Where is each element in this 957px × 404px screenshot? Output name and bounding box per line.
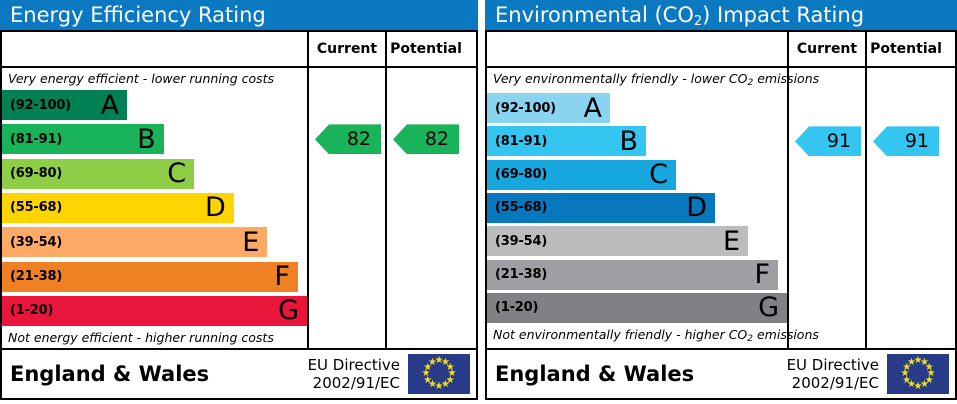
energy-potential-arrow: 82 (393, 124, 459, 154)
band-row-a: (92-100)A (2, 90, 127, 120)
band-row-f: (21-38)F (2, 262, 298, 292)
energy-bands-cell: Very energy efficient - lower running co… (2, 68, 309, 348)
chart-title-energy-text: Energy Efficiency Rating (10, 3, 266, 27)
band-letter-g: G (278, 297, 301, 324)
band-range-b: (81-91) (495, 134, 547, 149)
co2-potential-cell: 91 (867, 68, 945, 348)
band-range-b: (81-91) (10, 132, 62, 147)
band-letter-d: D (205, 194, 228, 221)
band-row-b: (81-91)B (2, 124, 164, 154)
co2-directive-line2: 2002/91/EC (787, 374, 879, 392)
band-row-c: (69-80)C (487, 160, 676, 190)
header-bands-cell-co2 (487, 32, 789, 66)
band-range-d: (55-68) (495, 200, 547, 215)
co2-footer-directive: EU Directive 2002/91/EC (787, 356, 887, 392)
band-row-e: (39-54)E (2, 227, 267, 257)
eu-star-icon: ★ (428, 358, 437, 368)
energy-rating-table: Current Potential Very energy efficient … (0, 30, 478, 400)
co2-current-cell: 91 (789, 68, 867, 348)
energy-caption-top: Very energy efficient - lower running co… (2, 68, 307, 88)
band-range-c: (69-80) (495, 167, 547, 182)
band-range-a: (92-100) (495, 101, 556, 116)
band-letter-g: G (758, 294, 781, 321)
energy-band-list: (92-100)A(81-91)B(69-80)C(55-68)D(39-54)… (2, 88, 307, 328)
co2-bands-cell: Very environmentally friendly - lower CO… (487, 68, 789, 348)
co2-impact-rating-chart: Environmental (CO2) Impact Rating Curren… (485, 0, 957, 404)
band-letter-f: F (274, 263, 292, 290)
header-potential-energy: Potential (387, 32, 465, 66)
band-range-d: (55-68) (10, 200, 62, 215)
band-row-d: (55-68)D (2, 193, 234, 223)
eu-star-icon: ★ (907, 358, 916, 368)
chart-title-co2-prefix: Environmental (CO (495, 3, 694, 27)
chart-gap (478, 0, 485, 404)
band-range-e: (39-54) (495, 234, 547, 249)
band-row-b: (81-91)B (487, 126, 646, 156)
co2-current-arrow: 91 (795, 126, 861, 156)
chart-title-energy: Energy Efficiency Rating (0, 0, 478, 30)
eu-flag-icon: ★★★★★★★★★★★★ (408, 354, 470, 394)
energy-directive-line2: 2002/91/EC (308, 374, 400, 392)
co2-caption-top: Very environmentally friendly - lower CO… (487, 68, 787, 91)
co2-band-area: Very environmentally friendly - lower CO… (487, 68, 787, 348)
band-row-c: (69-80)C (2, 159, 194, 189)
co2-footer-region: England & Wales (495, 362, 787, 386)
band-range-a: (92-100) (10, 98, 71, 113)
table-header-row: Current Potential (2, 32, 476, 68)
band-row-a: (92-100)A (487, 93, 610, 123)
table-body-row: Very energy efficient - lower running co… (2, 68, 476, 350)
co2-band-list: (92-100)A(81-91)B(69-80)C(55-68)D(39-54)… (487, 91, 787, 325)
band-letter-c: C (167, 160, 188, 187)
co2-caption-bottom: Not environmentally friendly - higher CO… (487, 325, 787, 348)
chart-title-co2-subscript: 2 (694, 14, 702, 29)
band-range-f: (21-38) (10, 269, 62, 284)
epc-charts-container: Energy Efficiency Rating Current Potenti… (0, 0, 957, 404)
band-row-g: (1-20)G (2, 296, 307, 326)
header-bands-cell (2, 32, 309, 66)
band-letter-e: E (723, 228, 742, 255)
header-current-energy: Current (309, 32, 387, 66)
band-letter-f: F (754, 261, 772, 288)
energy-potential-value: 82 (425, 128, 449, 150)
band-range-g: (1-20) (10, 303, 53, 318)
energy-efficiency-rating-chart: Energy Efficiency Rating Current Potenti… (0, 0, 478, 404)
band-letter-a: A (101, 92, 121, 119)
energy-caption-bottom: Not energy efficient - higher running co… (2, 328, 307, 348)
energy-current-cell: 82 (309, 68, 387, 348)
band-range-c: (69-80) (10, 166, 62, 181)
header-current-co2: Current (789, 32, 867, 66)
energy-current-arrow: 82 (315, 124, 381, 154)
band-letter-b: B (137, 126, 158, 153)
chart-title-co2: Environmental (CO2) Impact Rating (485, 0, 957, 30)
band-letter-c: C (649, 161, 670, 188)
co2-potential-value: 91 (905, 130, 929, 152)
band-letter-b: B (619, 128, 640, 155)
header-potential-co2: Potential (867, 32, 945, 66)
band-letter-d: D (686, 194, 709, 221)
co2-footer: England & Wales EU Directive 2002/91/EC … (487, 350, 955, 398)
co2-potential-arrow: 91 (873, 126, 939, 156)
band-range-e: (39-54) (10, 235, 62, 250)
co2-directive-line1: EU Directive (787, 356, 879, 374)
band-row-e: (39-54)E (487, 226, 748, 256)
table-header-row-co2: Current Potential (487, 32, 955, 68)
energy-footer: England & Wales EU Directive 2002/91/EC … (2, 350, 476, 398)
table-body-row-co2: Very environmentally friendly - lower CO… (487, 68, 955, 350)
chart-title-co2-suffix: ) Impact Rating (702, 3, 864, 27)
energy-potential-cell: 82 (387, 68, 465, 348)
band-row-d: (55-68)D (487, 193, 715, 223)
energy-footer-directive: EU Directive 2002/91/EC (308, 356, 408, 392)
band-range-g: (1-20) (495, 300, 538, 315)
energy-footer-region: England & Wales (10, 362, 308, 386)
band-row-f: (21-38)F (487, 260, 778, 290)
co2-current-value: 91 (827, 130, 851, 152)
energy-directive-line1: EU Directive (308, 356, 400, 374)
band-letter-e: E (242, 229, 261, 256)
band-range-f: (21-38) (495, 267, 547, 282)
eu-flag-icon: ★★★★★★★★★★★★ (887, 354, 949, 394)
band-letter-a: A (584, 95, 604, 122)
band-row-g: (1-20)G (487, 293, 787, 323)
energy-current-value: 82 (347, 128, 371, 150)
co2-rating-table: Current Potential Very environmentally f… (485, 30, 957, 400)
energy-band-area: Very energy efficient - lower running co… (2, 68, 307, 348)
